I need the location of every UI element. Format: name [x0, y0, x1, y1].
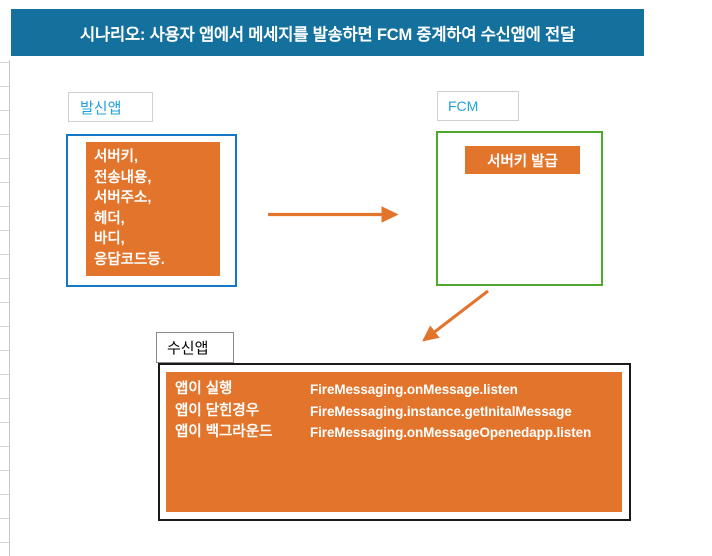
ruler-tick — [0, 422, 9, 423]
ruler-tick — [0, 326, 9, 327]
sender-payload-item: 응답코드등. — [94, 250, 218, 271]
receiver-api-label: FireMessaging.instance.getInitalMessage — [310, 401, 572, 423]
receiver-state-label: 앱이 실행 — [175, 379, 310, 401]
ruler-tick — [0, 110, 9, 111]
receiver-api-label: FireMessaging.onMessage.listen — [310, 379, 518, 401]
sender-payload-item: 서버키, — [94, 147, 218, 168]
ruler-tick — [0, 470, 9, 471]
title-banner: 시나리오: 사용자 앱에서 메세지를 발송하면 FCM 중계하여 수신앱에 전달 — [11, 9, 644, 56]
fcm-label-text: FCM — [448, 98, 518, 114]
fcm-label-box: FCM — [437, 91, 519, 121]
sender-payload-item: 바디, — [94, 229, 218, 250]
ruler-tick — [0, 86, 9, 87]
banner-title-text: 시나리오: 사용자 앱에서 메세지를 발송하면 FCM 중계하여 수신앱에 전달 — [11, 9, 644, 56]
sender-label-text: 발신앱 — [80, 97, 152, 118]
ruler-tick — [0, 494, 9, 495]
ruler-tick — [0, 446, 9, 447]
receiver-api-row: 앱이 닫힌경우 FireMessaging.instance.getInital… — [175, 401, 615, 423]
diagram-canvas: 시나리오: 사용자 앱에서 메세지를 발송하면 FCM 중계하여 수신앱에 전달… — [0, 0, 712, 556]
arrow-fcm-to-receiver-icon — [424, 291, 488, 340]
ruler-tick — [0, 158, 9, 159]
ruler-tick — [0, 518, 9, 519]
left-ruler-gutter — [0, 0, 10, 556]
receiver-api-row: 앱이 실행 FireMessaging.onMessage.listen — [175, 379, 615, 401]
receiver-state-label: 앱이 닫힌경우 — [175, 401, 310, 423]
sender-payload-item: 전송내용, — [94, 168, 218, 189]
ruler-vertical-line — [9, 60, 10, 556]
receiver-label-box: 수신앱 — [156, 332, 234, 363]
sender-payload-item: 서버주소, — [94, 188, 218, 209]
ruler-tick — [0, 374, 9, 375]
ruler-tick — [0, 206, 9, 207]
receiver-api-row: 앱이 백그라운드 FireMessaging.onMessageOpenedap… — [175, 422, 615, 444]
sender-payload-list: 서버키, 전송내용, 서버주소, 헤더, 바디, 응답코드등. — [94, 147, 218, 270]
receiver-state-label: 앱이 백그라운드 — [175, 422, 310, 444]
ruler-tick — [0, 182, 9, 183]
ruler-tick — [0, 398, 9, 399]
ruler-tick — [0, 302, 9, 303]
sender-label-box: 발신앱 — [68, 92, 153, 122]
sender-payload-item: 헤더, — [94, 209, 218, 230]
receiver-api-table: 앱이 실행 FireMessaging.onMessage.listen 앱이 … — [175, 379, 615, 444]
ruler-tick — [0, 254, 9, 255]
ruler-tick — [0, 62, 9, 63]
ruler-tick — [0, 542, 9, 543]
ruler-tick — [0, 278, 9, 279]
ruler-tick — [0, 134, 9, 135]
ruler-tick — [0, 350, 9, 351]
receiver-label-text: 수신앱 — [167, 337, 233, 358]
ruler-tick — [0, 230, 9, 231]
receiver-api-label: FireMessaging.onMessageOpenedapp.listen — [310, 422, 591, 444]
fcm-server-key-badge: 서버키 발급 — [465, 146, 580, 174]
fcm-server-key-badge-text: 서버키 발급 — [465, 146, 580, 174]
